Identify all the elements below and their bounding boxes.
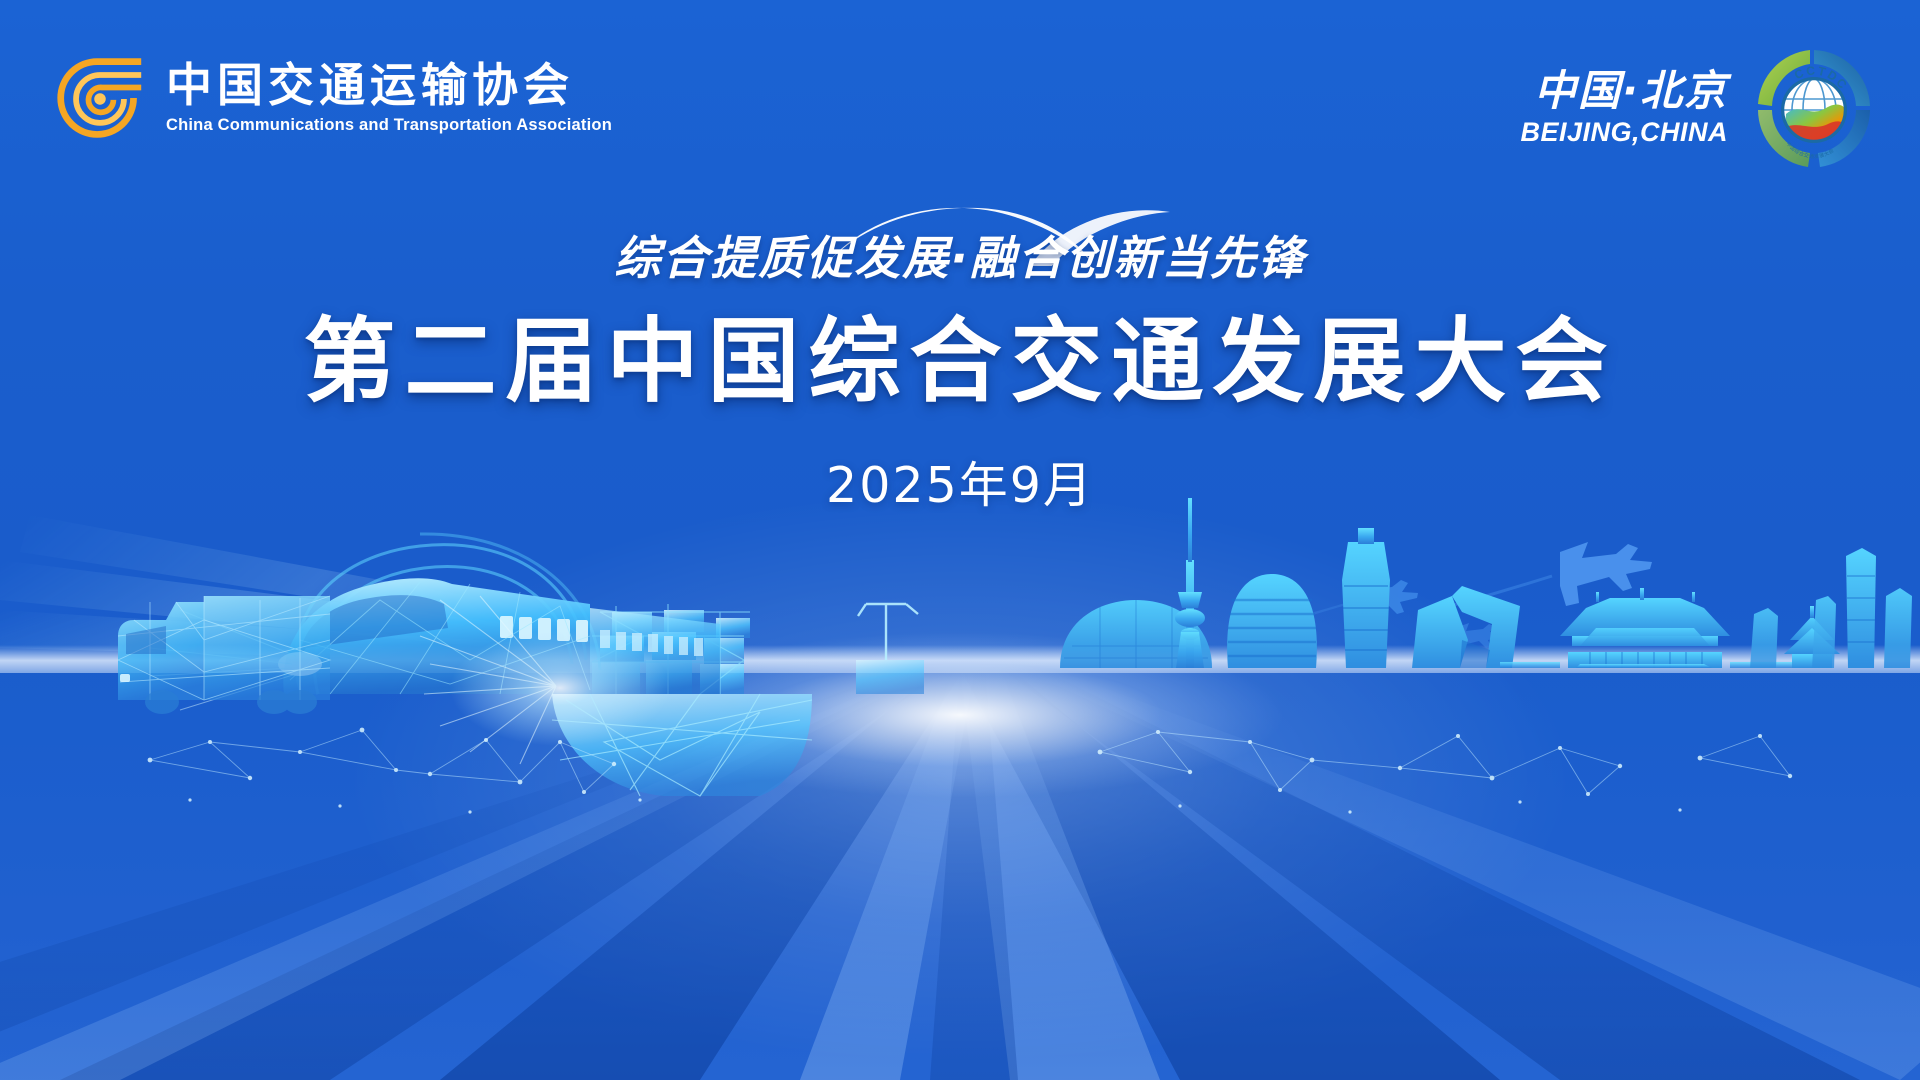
association-name-en: China Communications and Transportation … bbox=[166, 116, 612, 135]
cctdc-globe-emblem-icon: CCTDC 中国综合交通发展大会 bbox=[1750, 44, 1878, 172]
conference-banner: 中国交通运输协会 China Communications and Transp… bbox=[0, 0, 1920, 1080]
location-city-cn: 中国·北京 bbox=[1534, 68, 1728, 114]
horizon-band bbox=[0, 645, 1920, 673]
page-title: 第二届中国综合交通发展大会 bbox=[0, 287, 1920, 420]
hero-tagline: 综合提质促发展·融合创新当先锋 bbox=[0, 222, 1920, 288]
location-emblem-block: 中国·北京 BEIJING,CHINA bbox=[1520, 44, 1878, 172]
event-date: 2025年9月 bbox=[0, 446, 1920, 517]
location-city-en: BEIJING,CHINA bbox=[1520, 117, 1728, 148]
association-name-cn: 中国交通运输协会 bbox=[166, 61, 612, 111]
ccta-spiral-logo-icon bbox=[52, 52, 148, 144]
association-logo-block: 中国交通运输协会 China Communications and Transp… bbox=[52, 52, 612, 144]
